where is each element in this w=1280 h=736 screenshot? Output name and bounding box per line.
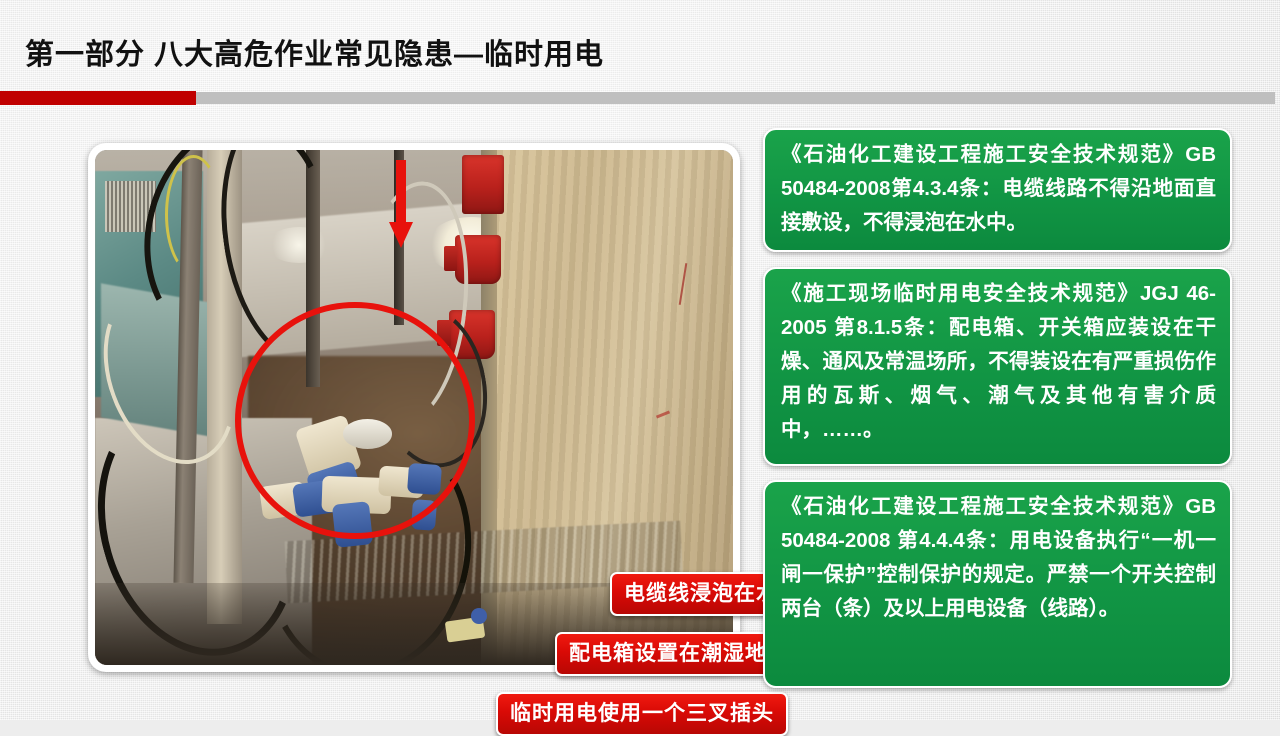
regulation-box-3: 《石油化工建设工程施工安全技术规范》GB 50484-2008 第4.4.4条：… xyxy=(763,480,1232,688)
red-ellipse-highlight-icon xyxy=(235,302,474,539)
site-photo-frame: 电缆线浸泡在水中 配电箱设置在潮湿地面 临时用电使用一个三叉插头 xyxy=(88,143,740,672)
divider-red-segment xyxy=(0,91,196,105)
divider-gray-segment xyxy=(196,92,1275,104)
regulation-box-1: 《石油化工建设工程施工安全技术规范》GB 50484-2008第4.3.4条：电… xyxy=(763,128,1232,252)
callout-label-3: 临时用电使用一个三叉插头 xyxy=(496,692,788,736)
header-divider-rule xyxy=(0,91,1275,105)
red-down-arrow-icon xyxy=(388,160,414,252)
photo-red-junction-box-1 xyxy=(462,155,504,214)
photo-cable-yellow xyxy=(165,155,222,274)
regulation-box-2: 《施工现场临时用电安全技术规范》JGJ 46-2005 第8.1.5条：配电箱、… xyxy=(763,267,1232,466)
slide-canvas: 第一部分 八大高危作业常见隐患—临时用电 xyxy=(0,0,1280,720)
page-title: 第一部分 八大高危作业常见隐患—临时用电 xyxy=(25,31,604,73)
